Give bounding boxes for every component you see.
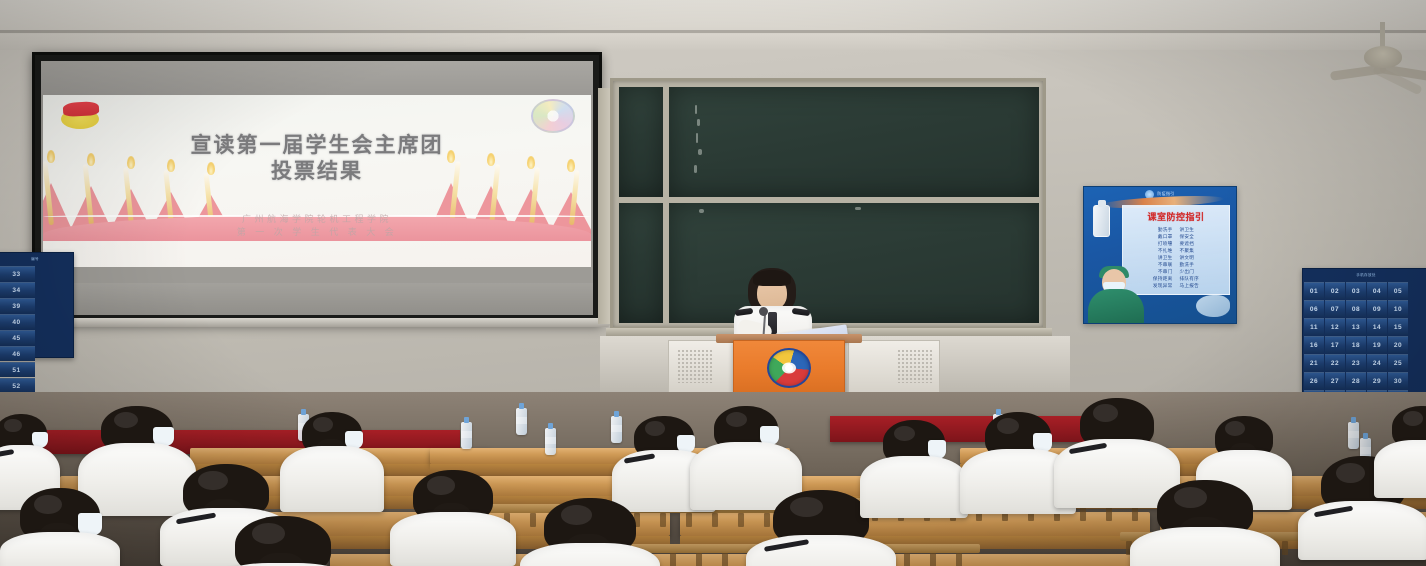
fan-hub: [1364, 46, 1402, 68]
student-uniform: [0, 532, 120, 566]
board-slot[interactable]: 16: [1304, 336, 1324, 353]
board-slot[interactable]: 21: [1304, 354, 1324, 371]
hair-highlight: [1225, 421, 1245, 436]
board-slot[interactable]: 17: [1325, 336, 1345, 353]
poster-guideline-text: 排队有序: [1180, 275, 1200, 282]
student: [1130, 480, 1280, 566]
bench-slat: [904, 553, 910, 566]
poster-guideline-text: 勤洗手: [1158, 226, 1173, 233]
blackboard-panel: [619, 203, 663, 323]
board-slot[interactable]: 02: [1325, 282, 1345, 299]
board-slot[interactable]: 25: [1388, 354, 1408, 371]
bench-slat: [1282, 541, 1288, 555]
hair-highlight: [252, 523, 285, 543]
speaker-cabinet-right: [848, 340, 940, 394]
hair-highlight: [4, 419, 22, 433]
board-slot[interactable]: 10: [1388, 300, 1408, 317]
poster-guideline-text: 打喷嚏: [1158, 240, 1173, 247]
hair-highlight: [114, 412, 138, 428]
hair-highlight: [34, 495, 61, 514]
board-slot[interactable]: 52: [0, 378, 35, 393]
hair-highlight: [1093, 404, 1118, 422]
emblem-flag: [63, 101, 100, 117]
chalk-mark: [698, 149, 702, 155]
board-slot[interactable]: 51: [0, 362, 35, 377]
student-uniform: [280, 446, 384, 512]
poster-guideline-text: 保安全: [1180, 233, 1195, 240]
board-slot[interactable]: 29: [1367, 372, 1387, 389]
board-slot[interactable]: 39: [0, 298, 35, 313]
bench-slat: [686, 513, 692, 527]
projection-screen-surface: 宣读第一届学生会主席团 投票结果 广州航海学院轮机工程学院 第 一 次 学 生 …: [41, 61, 593, 315]
poster-guideline-text: 少出门: [1180, 268, 1195, 275]
poster-title: 课室防控指引: [1123, 210, 1229, 223]
presentation-slide: 宣读第一届学生会主席团 投票结果 广州航海学院轮机工程学院 第 一 次 学 生 …: [43, 95, 591, 267]
board-slot[interactable]: 27: [1325, 372, 1345, 389]
board-slot[interactable]: 26: [1304, 372, 1324, 389]
hair-highlight: [790, 497, 823, 517]
slide-title-line1: 宣读第一届学生会主席团: [43, 133, 591, 159]
board-slot[interactable]: 09: [1367, 300, 1387, 317]
board-slot[interactable]: 03: [1346, 282, 1366, 299]
microphone-icon: [759, 307, 768, 316]
student-uniform: [860, 456, 968, 518]
board-slot[interactable]: 05: [1388, 282, 1408, 299]
hair-highlight: [1403, 411, 1423, 426]
board-slot[interactable]: 20: [1388, 336, 1408, 353]
phone-storage-board-right: 手机存放处 0102030405060708091011121314151617…: [1302, 268, 1426, 412]
poster-guideline-text: 不扎堆: [1158, 247, 1173, 254]
chalk-mark: [696, 133, 698, 143]
hair-highlight: [726, 412, 748, 428]
water-bottle: [461, 422, 472, 449]
poster-guideline-text: 不串门: [1158, 268, 1173, 275]
covid-prevention-poster: 防疫指引 课室防控指引 勤洗手讲卫生戴口罩保安全打喷嚏要遮挡不扎堆不聚集讲卫生讲…: [1083, 186, 1237, 324]
hair-highlight: [1336, 463, 1365, 483]
glove-illustration: [1196, 295, 1230, 317]
board-slot[interactable]: 34: [0, 282, 35, 297]
nurse-scrubs: [1088, 289, 1144, 323]
sanitizer-bottle-icon: [1093, 205, 1110, 237]
chalk-mark: [699, 209, 704, 213]
board-slot[interactable]: 15: [1388, 318, 1408, 335]
bench-slat: [1106, 507, 1112, 521]
poster-guideline-row: 不扎堆不聚集: [1127, 247, 1225, 254]
board-slot[interactable]: 45: [0, 330, 35, 345]
poster-guideline-text: 保持距离: [1153, 275, 1173, 282]
board-slot[interactable]: 19: [1367, 336, 1387, 353]
school-emblem-icon: [531, 99, 575, 133]
board-slot[interactable]: 46: [0, 346, 35, 361]
board-slot[interactable]: 07: [1325, 300, 1345, 317]
board-slot[interactable]: 11: [1304, 318, 1324, 335]
nurse-illustration: [1088, 263, 1144, 323]
poster-guideline-row: 打喷嚏要遮挡: [1127, 240, 1225, 247]
poster-guideline-text: 要遮挡: [1180, 240, 1195, 247]
board-header-text: 手机存放处: [1356, 273, 1375, 278]
board-slot[interactable]: 12: [1325, 318, 1345, 335]
board-slot[interactable]: 04: [1367, 282, 1387, 299]
student: [520, 498, 660, 566]
slide-subtitle-line2: 第 一 次 学 生 代 表 大 会: [43, 226, 591, 239]
slide-subtitle: 广州航海学院轮机工程学院 第 一 次 学 生 代 表 大 会: [43, 213, 591, 239]
bench-slat: [660, 513, 666, 527]
blackboard-panel: [619, 87, 663, 197]
poster-guideline-row: 讲卫生讲文明: [1127, 254, 1225, 261]
poster-guideline-text: 讲卫生: [1158, 254, 1173, 261]
student: [860, 420, 968, 518]
hair-highlight: [313, 417, 333, 432]
board-slot[interactable]: 08: [1346, 300, 1366, 317]
projection-screen-ledge: [32, 318, 610, 327]
slide-title: 宣读第一届学生会主席团 投票结果: [43, 133, 591, 184]
poster-guideline-text: 讲文明: [1180, 254, 1195, 261]
board-slot[interactable]: 24: [1367, 354, 1387, 371]
board-slot[interactable]: 28: [1346, 372, 1366, 389]
blackboard-panel: [669, 87, 1039, 197]
board-slot[interactable]: 06: [1304, 300, 1324, 317]
school-emblem-icon: [767, 348, 811, 388]
bench-slat: [1080, 507, 1086, 521]
speaker-grille: [677, 349, 713, 383]
poster-guideline-text: 勤洗手: [1180, 261, 1195, 268]
bench-slat: [722, 553, 728, 566]
water-bottle: [516, 408, 527, 435]
student: [208, 516, 358, 566]
poster-guideline-row: 勤洗手讲卫生: [1127, 226, 1225, 233]
bench-slat: [712, 513, 718, 527]
poster-guideline-text: 戴口罩: [1158, 233, 1173, 240]
student-uniform: [520, 543, 660, 566]
poster-guideline-text: 马上报告: [1180, 282, 1200, 289]
board-slot[interactable]: 14: [1367, 318, 1387, 335]
board-slot[interactable]: 22: [1325, 354, 1345, 371]
student: [390, 470, 516, 566]
ceiling: [0, 0, 1426, 34]
hair-highlight: [997, 418, 1019, 434]
wall-upper-band: [0, 34, 1426, 50]
hair-highlight: [1174, 487, 1207, 507]
communist-youth-league-emblem-icon: [59, 101, 101, 131]
poster-guideline-row: 戴口罩保安全: [1127, 233, 1225, 240]
seat-number-board-left: 编号 3334394045465152535457585960: [0, 252, 74, 358]
classroom-assembly-photo: 宣读第一届学生会主席团 投票结果 广州航海学院轮机工程学院 第 一 次 学 生 …: [0, 0, 1426, 566]
slide-letterbox-top: [41, 61, 593, 95]
board-slot[interactable]: 13: [1346, 318, 1366, 335]
board-slot[interactable]: 30: [1388, 372, 1408, 389]
poster-guideline-text: 不聚集: [1180, 247, 1195, 254]
slide-title-line2: 投票结果: [43, 159, 591, 185]
water-bottle: [545, 428, 556, 455]
student-uniform: [390, 512, 516, 566]
board-slot[interactable]: 40: [0, 314, 35, 329]
water-bottle: [1348, 422, 1359, 449]
student: [280, 412, 384, 512]
chalk-mark: [694, 165, 697, 173]
student-uniform: [1130, 527, 1280, 566]
student-uniform: [1374, 440, 1426, 498]
bench-slat: [696, 553, 702, 566]
poster-guideline-text: 讲卫生: [1180, 226, 1195, 233]
ceiling-fan-icon: [1336, 22, 1426, 88]
hair-highlight: [427, 476, 454, 494]
ceiling-edge-line: [0, 30, 1426, 33]
board-header-text: 编号: [31, 257, 39, 262]
chalk-mark: [697, 119, 700, 126]
presenter-fringe: [753, 270, 791, 286]
board-slot[interactable]: 23: [1346, 354, 1366, 371]
board-slot[interactable]: 18: [1346, 336, 1366, 353]
bench-slat: [956, 553, 962, 566]
slide-letterbox-bottom: [41, 283, 593, 315]
student-uniform: [1298, 501, 1426, 560]
bench-slat: [738, 513, 744, 527]
board-header-right: 手机存放处: [1303, 269, 1426, 281]
hair-highlight: [894, 426, 915, 442]
student: [1374, 406, 1426, 498]
chalk-mark: [695, 105, 697, 114]
poster-guideline-text: 发现异常: [1153, 282, 1173, 289]
audience-area: [0, 392, 1426, 566]
projection-screen: 宣读第一届学生会主席团 投票结果 广州航海学院轮机工程学院 第 一 次 学 生 …: [32, 52, 602, 324]
chalk-mark: [855, 207, 861, 210]
lectern: [733, 340, 845, 396]
poster-guideline-text: 不串联: [1158, 261, 1173, 268]
bench-slat: [670, 553, 676, 566]
board-slot[interactable]: 01: [1304, 282, 1324, 299]
hair-highlight: [645, 421, 665, 436]
speaker-grille: [897, 349, 933, 383]
board-header-left: 编号: [0, 253, 73, 265]
hair-highlight: [561, 505, 592, 525]
hair-highlight: [198, 471, 227, 490]
student: [0, 488, 120, 566]
bench-slat: [930, 553, 936, 566]
board-slot[interactable]: 33: [0, 266, 35, 281]
slide-subtitle-line1: 广州航海学院轮机工程学院: [43, 213, 591, 226]
